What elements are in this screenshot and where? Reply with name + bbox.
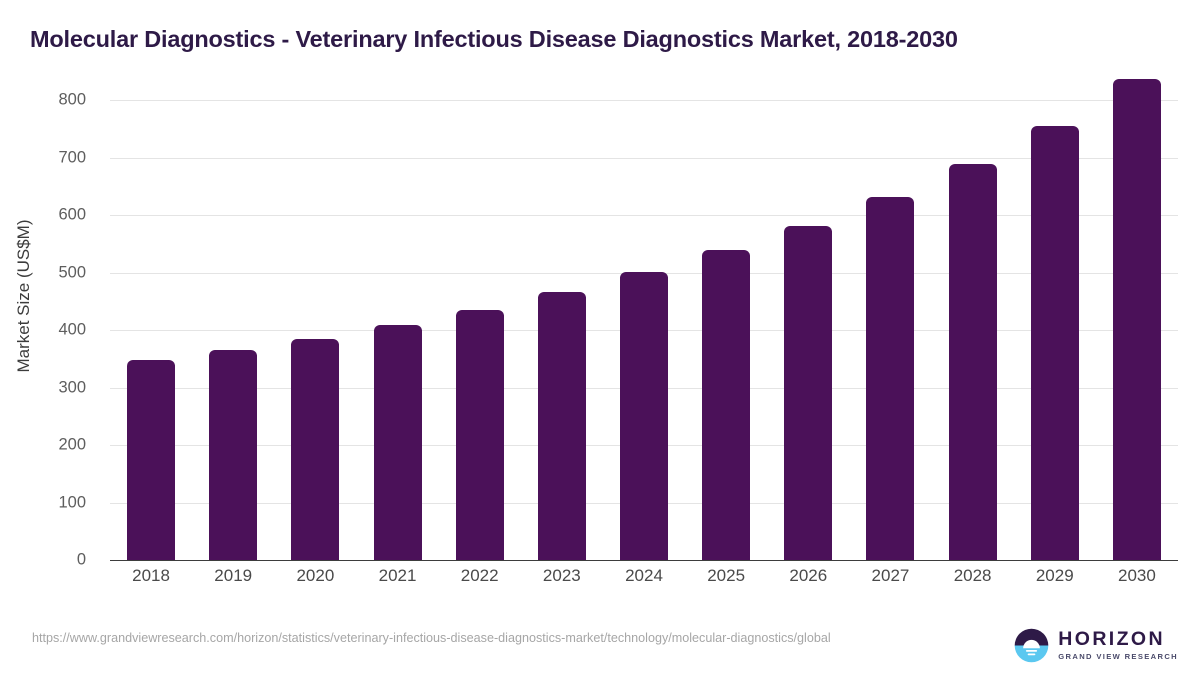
x-tick-label: 2024 bbox=[625, 566, 663, 586]
bar-2020[interactable] bbox=[291, 339, 339, 560]
y-tick-label: 500 bbox=[58, 263, 86, 282]
x-tick-label: 2019 bbox=[214, 566, 252, 586]
x-tick-label: 2018 bbox=[132, 566, 170, 586]
y-tick-label: 300 bbox=[58, 378, 86, 397]
footer: https://www.grandviewresearch.com/horizo… bbox=[0, 620, 1200, 675]
x-tick-label: 2030 bbox=[1118, 566, 1156, 586]
x-tick-label: 2021 bbox=[379, 566, 417, 586]
bar-2026[interactable] bbox=[784, 226, 832, 560]
horizon-sun-circle-icon bbox=[1014, 628, 1049, 663]
bar-2021[interactable] bbox=[374, 325, 422, 560]
logo-text: HORIZON GRAND VIEW RESEARCH bbox=[1058, 630, 1178, 660]
y-tick-label: 400 bbox=[58, 321, 86, 340]
x-tick-label: 2025 bbox=[707, 566, 745, 586]
chart-canvas: Molecular Diagnostics - Veterinary Infec… bbox=[0, 0, 1200, 675]
y-tick-label: 200 bbox=[58, 436, 86, 455]
y-tick-label: 800 bbox=[58, 91, 86, 110]
x-tick-label: 2023 bbox=[543, 566, 581, 586]
x-tick-label: 2028 bbox=[954, 566, 992, 586]
bar-2028[interactable] bbox=[949, 164, 997, 560]
bar-2018[interactable] bbox=[127, 360, 175, 560]
bar-2025[interactable] bbox=[702, 250, 750, 560]
plot-area bbox=[110, 100, 1178, 560]
x-axis-tick-labels: 2018201920202021202220232024202520262027… bbox=[110, 566, 1178, 596]
bar-series bbox=[110, 100, 1178, 560]
bar-2024[interactable] bbox=[620, 272, 668, 560]
x-tick-label: 2020 bbox=[296, 566, 334, 586]
bar-2027[interactable] bbox=[866, 197, 914, 560]
logo-tagline: GRAND VIEW RESEARCH bbox=[1058, 653, 1178, 661]
x-tick-label: 2022 bbox=[461, 566, 499, 586]
y-axis-tick-labels: 0100200300400500600700800 bbox=[0, 100, 100, 560]
bar-2023[interactable] bbox=[538, 292, 586, 560]
bar-2030[interactable] bbox=[1113, 79, 1161, 560]
bar-2029[interactable] bbox=[1031, 126, 1079, 560]
source-url[interactable]: https://www.grandviewresearch.com/horizo… bbox=[32, 630, 932, 647]
y-tick-label: 100 bbox=[58, 493, 86, 512]
x-tick-label: 2026 bbox=[789, 566, 827, 586]
y-tick-label: 600 bbox=[58, 206, 86, 225]
bar-2019[interactable] bbox=[209, 350, 257, 560]
axis-baseline bbox=[110, 560, 1178, 561]
x-tick-label: 2029 bbox=[1036, 566, 1074, 586]
y-tick-label: 700 bbox=[58, 148, 86, 167]
x-tick-label: 2027 bbox=[872, 566, 910, 586]
bar-2022[interactable] bbox=[456, 310, 504, 560]
y-tick-label: 0 bbox=[77, 551, 86, 570]
brand-logo: HORIZON GRAND VIEW RESEARCH bbox=[1014, 628, 1178, 663]
logo-wordmark: HORIZON bbox=[1058, 630, 1178, 650]
page-title: Molecular Diagnostics - Veterinary Infec… bbox=[30, 26, 1170, 53]
